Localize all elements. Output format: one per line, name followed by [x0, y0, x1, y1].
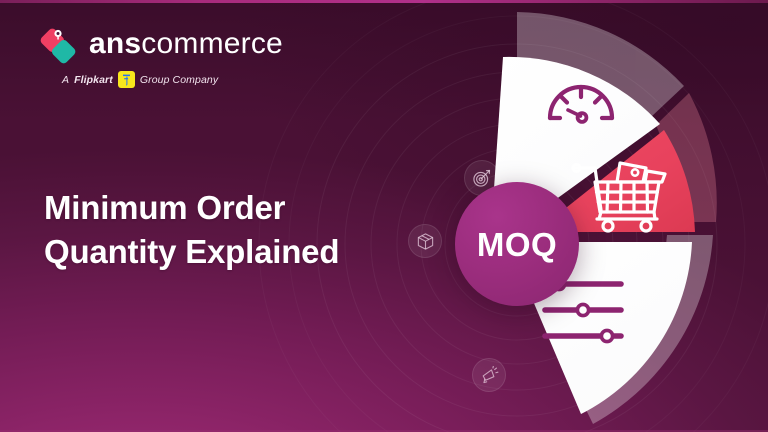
logo-word-light: commerce	[141, 27, 283, 60]
tagline-brand: Flipkart	[74, 74, 113, 86]
top-accent-line	[0, 0, 768, 3]
tagline-suffix: Group Company	[140, 74, 218, 86]
logo-wordmark: anscommerce	[89, 29, 283, 59]
headline-line-2: Quantity Explained	[44, 230, 339, 274]
moq-center-badge: MOQ	[455, 182, 579, 306]
tagline-prefix: A	[62, 74, 69, 86]
package-box-icon	[408, 224, 442, 258]
banner-root: anscommerce A Flipkart Group Company Min…	[0, 0, 768, 432]
flipkart-badge-icon	[118, 71, 135, 88]
anscommerce-logo-mark	[36, 24, 80, 64]
headline-line-1: Minimum Order	[44, 186, 339, 230]
moq-label: MOQ	[477, 228, 557, 261]
brand-logo[interactable]: anscommerce A Flipkart Group Company	[36, 24, 283, 88]
page-title: Minimum Order Quantity Explained	[44, 186, 339, 274]
megaphone-icon	[472, 358, 506, 392]
logo-tagline: A Flipkart Group Company	[62, 71, 283, 88]
logo-word-bold: ans	[89, 27, 141, 60]
